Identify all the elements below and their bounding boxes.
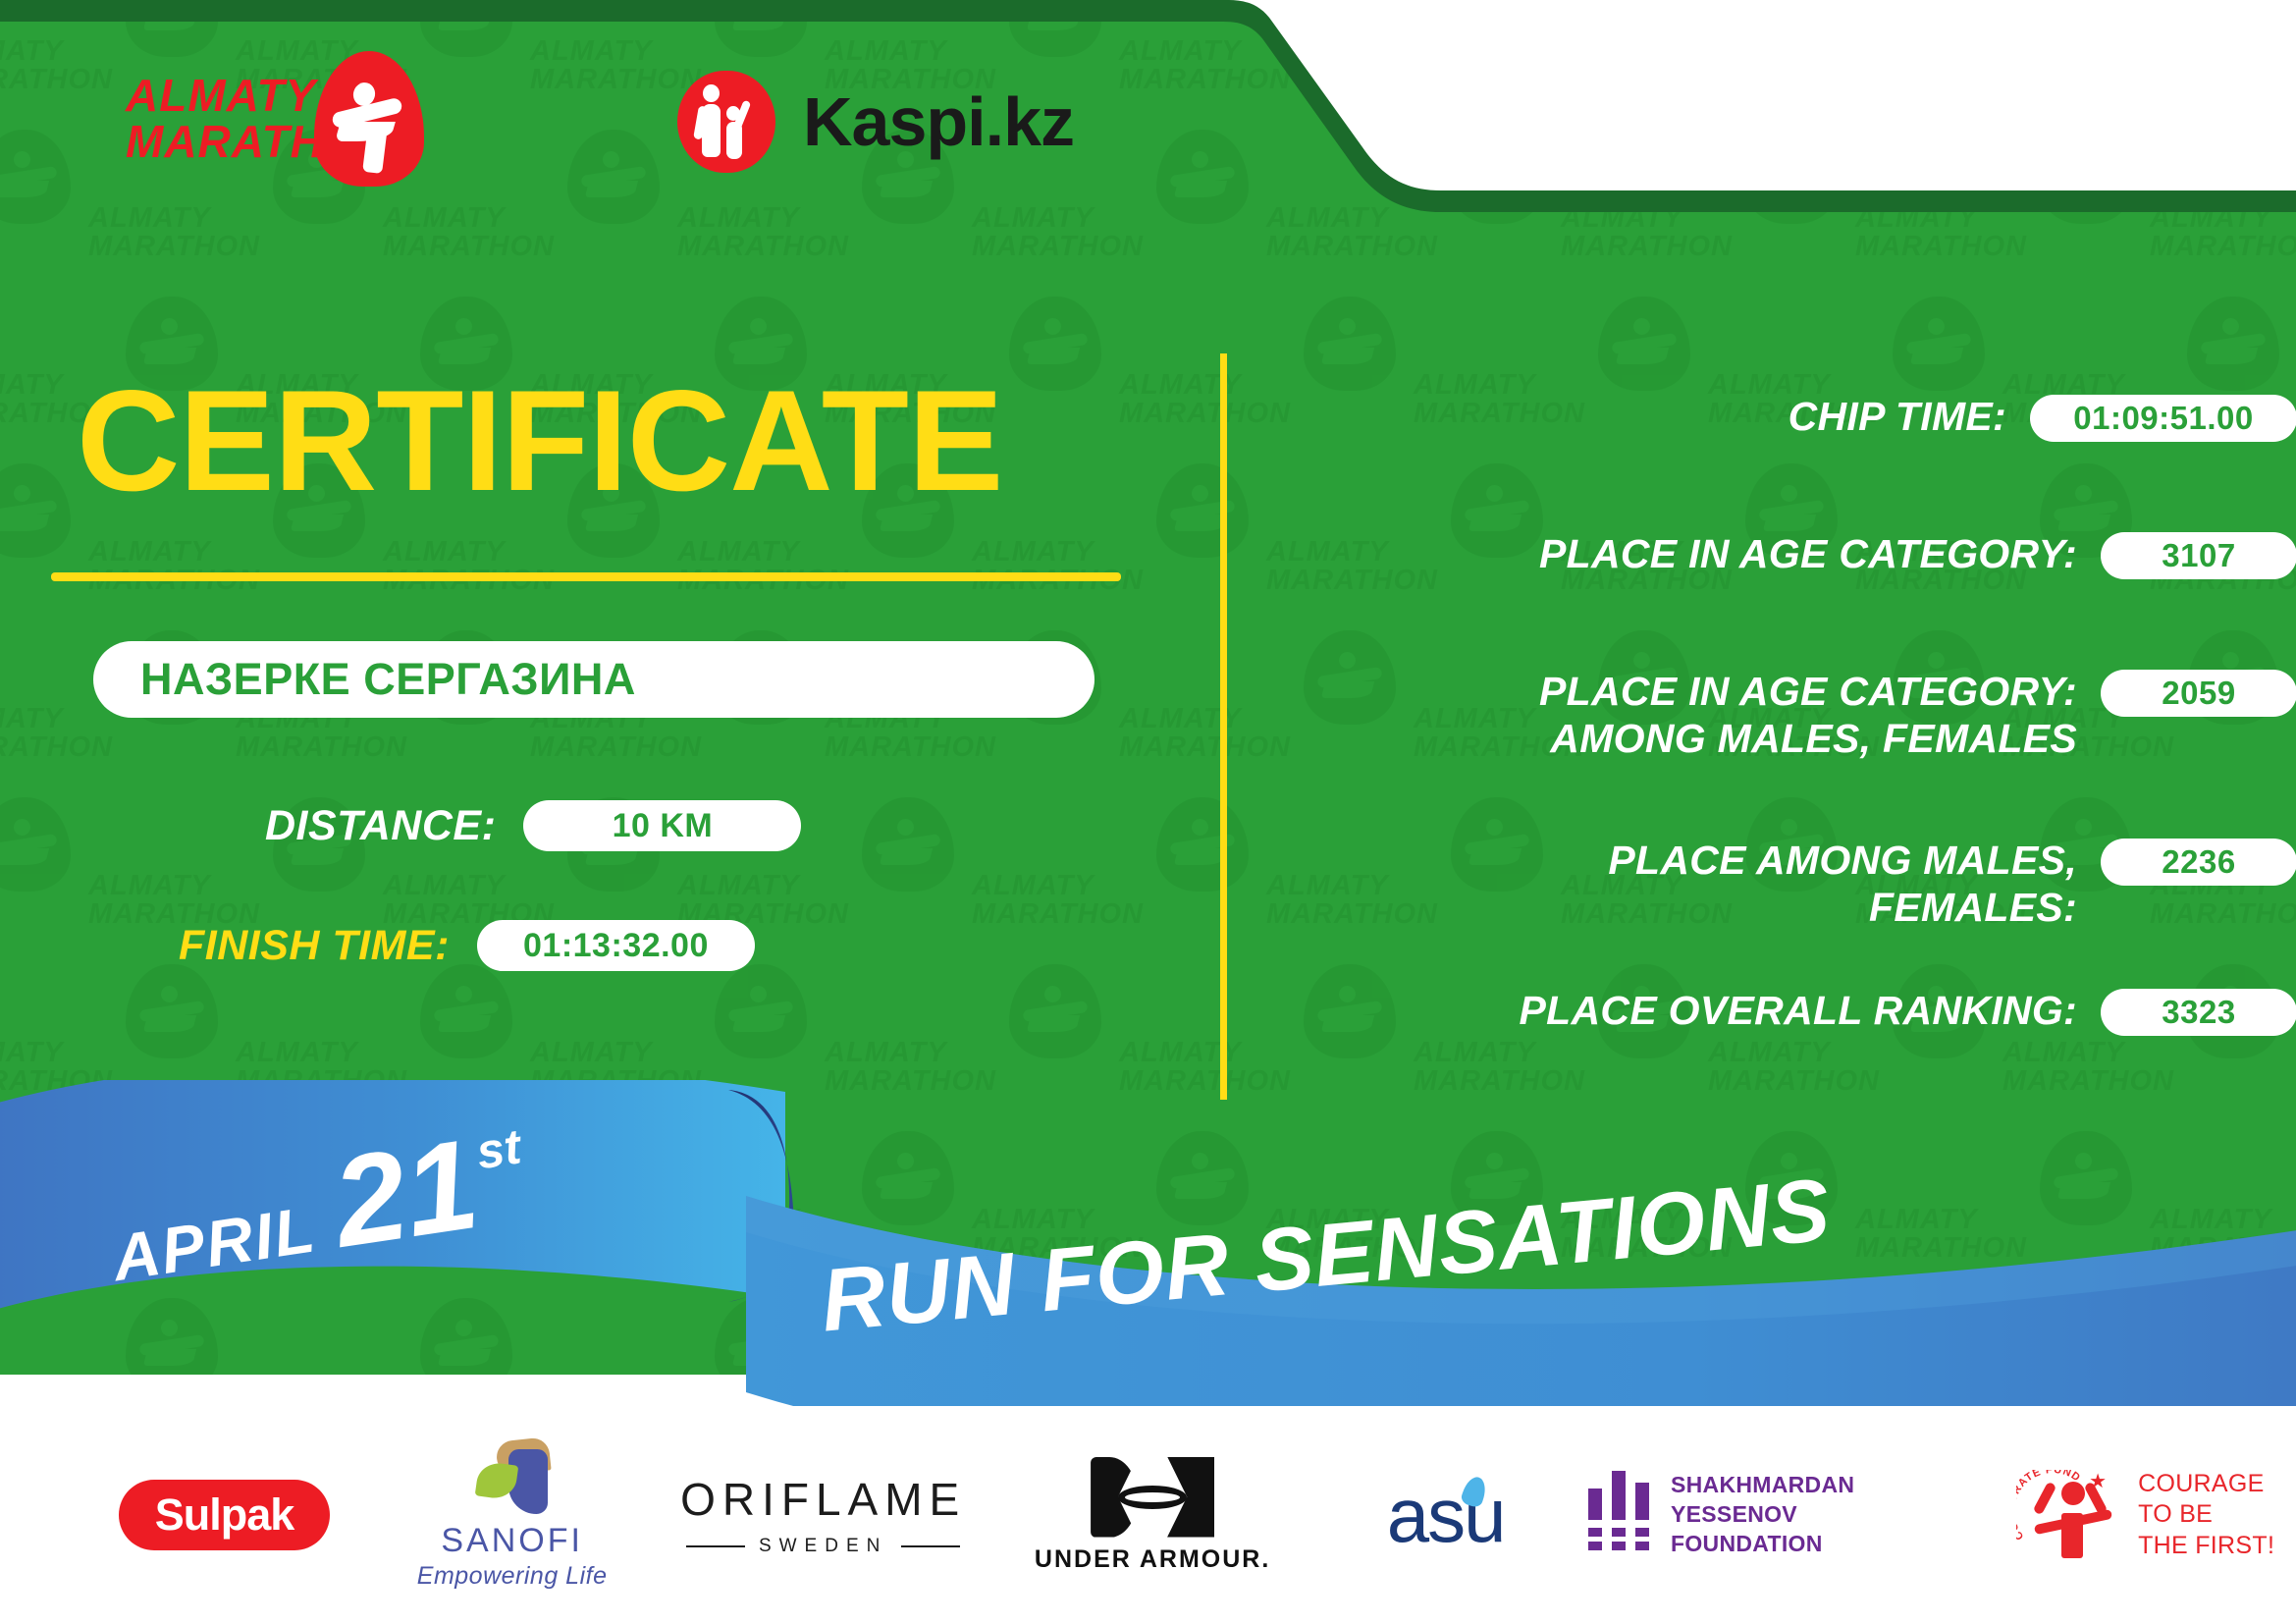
watermark-runner-leg bbox=[1321, 348, 1374, 364]
certificate-root: ALMATYMARATHONALMATYMARATHONALMATYMARATH… bbox=[0, 0, 2296, 1624]
event-day: 21 bbox=[327, 1129, 483, 1258]
watermark-runner-head bbox=[1339, 652, 1356, 669]
under-armour-icon bbox=[1091, 1457, 1214, 1538]
watermark-runner-head bbox=[1633, 318, 1650, 335]
watermark-runner-icon bbox=[1023, 318, 1090, 369]
yessenov-dash-2 bbox=[1612, 1528, 1626, 1537]
distance-label: DISTANCE: bbox=[265, 802, 496, 850]
watermark-runner-head bbox=[897, 819, 914, 836]
yessenov-bar-3 bbox=[1635, 1483, 1649, 1520]
sanofi-tagline: Empowering Life bbox=[417, 1562, 608, 1591]
place-age-category-value-pill: 3107 bbox=[2101, 532, 2296, 579]
watermark-runner-icon bbox=[0, 819, 59, 870]
watermark-runner-leg bbox=[1468, 514, 1522, 531]
watermark-runner-head bbox=[1339, 318, 1356, 335]
yessenov-mark-icon bbox=[1588, 1471, 1649, 1559]
sulpak-badge-shape: Sulpak bbox=[119, 1480, 330, 1550]
yessenov-label-line1: SHAKHMARDAN YESSENOV bbox=[1671, 1471, 1987, 1530]
place-overall-ranking-value: 3323 bbox=[2162, 994, 2235, 1031]
sponsor-logo-courage-to-be-first: CORPORATE FUND ★ COURAGE TO BE THE FIRST… bbox=[1997, 1436, 2296, 1594]
watermark-runner-head bbox=[14, 485, 30, 502]
courage-label-line1: COURAGE bbox=[2138, 1469, 2274, 1499]
finish-time-value: 01:13:32.00 bbox=[523, 927, 709, 965]
watermark-runner-leg bbox=[1027, 348, 1080, 364]
place-age-category-gender-label: PLACE IN AGE CATEGORY: AMONG MALES, FEMA… bbox=[1296, 668, 2101, 763]
watermark-runner-icon bbox=[1759, 485, 1826, 536]
place-overall-ranking-value-pill: 3323 bbox=[2101, 989, 2296, 1036]
runner-leg-back-shape bbox=[362, 125, 388, 174]
watermark-runner-head bbox=[1192, 819, 1208, 836]
watermark-runner-icon bbox=[434, 986, 501, 1037]
watermark-runner-head bbox=[750, 318, 767, 335]
sanofi-label: SANOFI bbox=[441, 1522, 583, 1560]
chip-time-row: CHIP TIME: 01:09:51.00 bbox=[1296, 393, 2296, 442]
title-underline-rule bbox=[51, 572, 1121, 581]
watermark-runner-icon bbox=[2054, 485, 2120, 536]
yessenov-bar-1 bbox=[1588, 1489, 1602, 1520]
finish-time-label: FINISH TIME: bbox=[179, 922, 450, 970]
watermark-runner-leg bbox=[1763, 514, 1816, 531]
watermark-runner-icon bbox=[139, 986, 206, 1037]
page-title: CERTIFICATE bbox=[77, 369, 1002, 513]
watermark-tile: ALMATYMARATHON bbox=[0, 795, 88, 962]
place-among-gender-row: PLACE AMONG MALES, FEMALES: 2236 bbox=[1296, 837, 2296, 932]
yessenov-label: SHAKHMARDAN YESSENOV FOUNDATION bbox=[1671, 1471, 1987, 1559]
watermark-line2: MARATHON bbox=[1119, 398, 1291, 430]
watermark-runner-head bbox=[2222, 318, 2239, 335]
runner-drop-icon bbox=[314, 51, 424, 187]
watermark-line2: MARATHON bbox=[0, 731, 113, 764]
watermark-runner-leg bbox=[0, 514, 49, 531]
watermark-runner-leg bbox=[1616, 348, 1669, 364]
courage-label: COURAGE TO BE THE FIRST! bbox=[2138, 1469, 2274, 1561]
watermark-runner-icon bbox=[1465, 485, 1531, 536]
distance-value: 10 KM bbox=[613, 807, 714, 845]
distance-value-pill: 10 KM bbox=[523, 800, 801, 851]
watermark-runner-icon bbox=[0, 485, 59, 536]
watermark-runner-icon bbox=[2201, 318, 2268, 369]
finish-time-value-pill: 01:13:32.00 bbox=[477, 920, 755, 971]
participant-name-value: НАЗЕРКЕ СЕРГАЗИНА bbox=[140, 654, 636, 705]
yessenov-dash-1 bbox=[1588, 1528, 1602, 1537]
watermark-runner-leg bbox=[880, 848, 933, 865]
watermark-line2: MARATHON bbox=[972, 898, 1144, 931]
watermark-runner-icon bbox=[1317, 318, 1384, 369]
watermark-runner-head bbox=[1192, 485, 1208, 502]
watermark-line2: MARATHON bbox=[530, 731, 702, 764]
courage-label-line2: TO BE bbox=[2138, 1499, 2274, 1530]
watermark-runner-head bbox=[1781, 485, 1797, 502]
courage-person-icon: CORPORATE FUND ★ bbox=[2018, 1466, 2122, 1564]
sponsor-bar: Sulpak SANOFI Empowering Life ORIFLAME S… bbox=[0, 1406, 2296, 1624]
column-divider bbox=[1220, 353, 1227, 1100]
watermark-runner-icon bbox=[876, 819, 942, 870]
place-overall-ranking-label: PLACE OVERALL RANKING: bbox=[1296, 987, 2101, 1034]
watermark-runner-head bbox=[1486, 485, 1503, 502]
watermark-runner-icon bbox=[728, 986, 795, 1037]
watermark-runner-head bbox=[1781, 819, 1797, 836]
courage-head-shape bbox=[2061, 1482, 2085, 1505]
watermark-runner-leg bbox=[732, 1015, 785, 1032]
kaspi-adult-head-shape bbox=[703, 84, 720, 102]
watermark-runner-head bbox=[1044, 318, 1061, 335]
place-age-category-value: 3107 bbox=[2162, 537, 2235, 574]
place-among-gender-label-line1: PLACE AMONG MALES, bbox=[1296, 837, 2077, 884]
oriflame-sub-row: SWEDEN bbox=[686, 1536, 960, 1557]
watermark-runner-head bbox=[2075, 819, 2092, 836]
place-among-gender-value-pill: 2236 bbox=[2101, 839, 2296, 886]
watermark-runner-head bbox=[1486, 819, 1503, 836]
watermark-tile: ALMATYMARATHON bbox=[0, 461, 88, 628]
yessenov-dash-4 bbox=[1588, 1542, 1602, 1550]
sulpak-label: Sulpak bbox=[155, 1489, 294, 1541]
asu-label: asu bbox=[1387, 1472, 1505, 1558]
yessenov-dash-5 bbox=[1612, 1542, 1626, 1550]
sponsor-logo-under-armour: UNDER ARMOUR. bbox=[1012, 1436, 1293, 1594]
watermark-line2: MARATHON bbox=[1119, 731, 1291, 764]
watermark-runner-leg bbox=[1910, 348, 1963, 364]
chip-time-value-pill: 01:09:51.00 bbox=[2030, 395, 2296, 442]
asu-label-wrap: asu bbox=[1387, 1471, 1505, 1560]
watermark-runner-icon bbox=[1023, 986, 1090, 1037]
watermark-runner-head bbox=[455, 986, 472, 1002]
oriflame-rule-right bbox=[901, 1545, 960, 1547]
watermark-runner-head bbox=[14, 819, 30, 836]
watermark-runner-head bbox=[750, 986, 767, 1002]
watermark-runner-leg bbox=[438, 1015, 491, 1032]
place-age-category-gender-label-line2: AMONG MALES, FEMALES bbox=[1296, 715, 2077, 762]
ua-center-oval-shape bbox=[1118, 1486, 1187, 1509]
place-age-category-label: PLACE IN AGE CATEGORY: bbox=[1296, 530, 2101, 577]
watermark-runner-leg bbox=[1174, 848, 1227, 865]
place-among-gender-value: 2236 bbox=[2162, 843, 2235, 881]
watermark-runner-leg bbox=[2057, 514, 2110, 531]
watermark-runner-leg bbox=[1027, 1015, 1080, 1032]
watermark-runner-head bbox=[1928, 318, 1945, 335]
place-age-category-gender-label-line1: PLACE IN AGE CATEGORY: bbox=[1296, 668, 2077, 715]
under-armour-label: UNDER ARMOUR. bbox=[1035, 1545, 1270, 1574]
watermark-runner-head bbox=[1633, 652, 1650, 669]
almaty-marathon-logo: ALMATY MARATHON bbox=[126, 51, 440, 184]
watermark-line2: MARATHON bbox=[236, 731, 407, 764]
oriflame-rule-left bbox=[686, 1545, 745, 1547]
place-age-category-gender-value: 2059 bbox=[2162, 675, 2235, 712]
watermark-runner-leg bbox=[2205, 348, 2258, 364]
watermark-runner-leg bbox=[143, 1015, 196, 1032]
participant-name-field: НАЗЕРКЕ СЕРГАЗИНА bbox=[93, 641, 1095, 718]
watermark-runner-icon bbox=[1612, 318, 1679, 369]
watermark-runner-leg bbox=[0, 848, 49, 865]
place-among-gender-label-line2: FEMALES: bbox=[1296, 884, 2077, 931]
sponsor-logo-oriflame: ORIFLAME SWEDEN bbox=[673, 1436, 973, 1594]
oriflame-tagline: SWEDEN bbox=[759, 1536, 887, 1557]
sponsor-logo-yessenov-foundation: SHAKHMARDAN YESSENOV FOUNDATION bbox=[1588, 1436, 1987, 1594]
watermark-runner-leg bbox=[1174, 514, 1227, 531]
sanofi-mark-icon bbox=[467, 1439, 558, 1514]
watermark-runner-head bbox=[2075, 485, 2092, 502]
yessenov-dash-6 bbox=[1635, 1542, 1649, 1550]
place-among-gender-label: PLACE AMONG MALES, FEMALES: bbox=[1296, 837, 2101, 932]
chip-time-label: CHIP TIME: bbox=[1296, 393, 2030, 440]
watermark-runner-head bbox=[1928, 652, 1945, 669]
kaspi-logo-text: Kaspi.kz bbox=[803, 82, 1074, 161]
kaspi-logo: Kaspi.kz bbox=[677, 71, 1074, 173]
courage-label-line3: THE FIRST! bbox=[2138, 1531, 2274, 1561]
oriflame-label: ORIFLAME bbox=[680, 1473, 966, 1526]
watermark-runner-head bbox=[1044, 986, 1061, 1002]
distance-row: DISTANCE: 10 KM bbox=[265, 800, 801, 851]
place-overall-ranking-row: PLACE OVERALL RANKING: 3323 bbox=[1296, 987, 2296, 1036]
event-day-suffix: st bbox=[473, 1117, 525, 1180]
chip-time-value: 01:09:51.00 bbox=[2073, 400, 2253, 437]
place-age-category-row: PLACE IN AGE CATEGORY: 3107 bbox=[1296, 530, 2296, 579]
watermark-runner-head bbox=[455, 318, 472, 335]
finish-time-row: FINISH TIME: 01:13:32.00 bbox=[179, 920, 755, 971]
yessenov-bar-2 bbox=[1612, 1471, 1626, 1520]
watermark-runner-head bbox=[161, 318, 178, 335]
sponsor-logo-sanofi: SANOFI Empowering Life bbox=[390, 1436, 634, 1594]
sponsor-logo-asu: asu bbox=[1332, 1436, 1559, 1594]
yessenov-label-line2: FOUNDATION bbox=[1671, 1530, 1987, 1559]
watermark-runner-icon bbox=[1906, 318, 1973, 369]
watermark-runner-head bbox=[161, 986, 178, 1002]
place-age-category-gender-value-pill: 2059 bbox=[2101, 670, 2296, 717]
kaspi-people-icon bbox=[677, 71, 775, 173]
sponsor-logo-sulpak: Sulpak bbox=[88, 1436, 360, 1594]
watermark-runner-head bbox=[2222, 652, 2239, 669]
yessenov-dash-3 bbox=[1635, 1528, 1649, 1537]
watermark-line2: MARATHON bbox=[825, 731, 996, 764]
place-age-category-gender-row: PLACE IN AGE CATEGORY: AMONG MALES, FEMA… bbox=[1296, 668, 2296, 763]
